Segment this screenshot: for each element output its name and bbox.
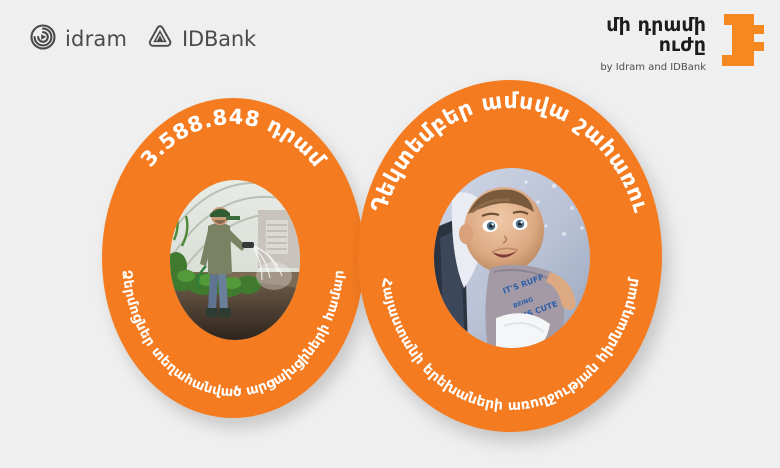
poster-canvas: idram IDBank մի դրամի ուժը by Idram and … xyxy=(0,0,780,468)
idbank-wordmark: IDBank xyxy=(182,27,256,51)
greenhouse-farmer-photo xyxy=(170,180,300,340)
badge-left[interactable]: 3.588.848 դրամ Ձերմոցներ տեղահանված արցա… xyxy=(102,98,364,418)
idram-logo[interactable]: idram xyxy=(30,24,127,54)
idbank-logo[interactable]: IDBank xyxy=(147,24,256,54)
campaign-byline: by Idram and IDBank xyxy=(600,62,706,73)
campaign-lockup[interactable]: մի դրամի ուժը by Idram and IDBank xyxy=(600,12,766,74)
idram-spiral-play-icon xyxy=(30,24,56,54)
campaign-title-line-1: մի դրամի xyxy=(600,16,706,36)
dram-symbol-icon xyxy=(714,12,766,74)
campaign-text-block: մի դրամի ուժը by Idram and IDBank xyxy=(600,12,706,73)
badge-right[interactable]: IT'S RUFF BEING THIS CUTE Դեկտեմբեր ամսվ… xyxy=(358,80,662,432)
badge-left-amount: 3.588.848 դրամ xyxy=(136,105,331,172)
idbank-triangle-icon xyxy=(147,24,173,54)
campaign-title-line-2: ուժը xyxy=(600,36,706,56)
idram-wordmark: idram xyxy=(65,27,127,51)
header-bar: idram IDBank մի դրամի ուժը by Idram and … xyxy=(0,0,780,92)
baby-in-stroller-photo: IT'S RUFF BEING THIS CUTE xyxy=(434,168,590,348)
